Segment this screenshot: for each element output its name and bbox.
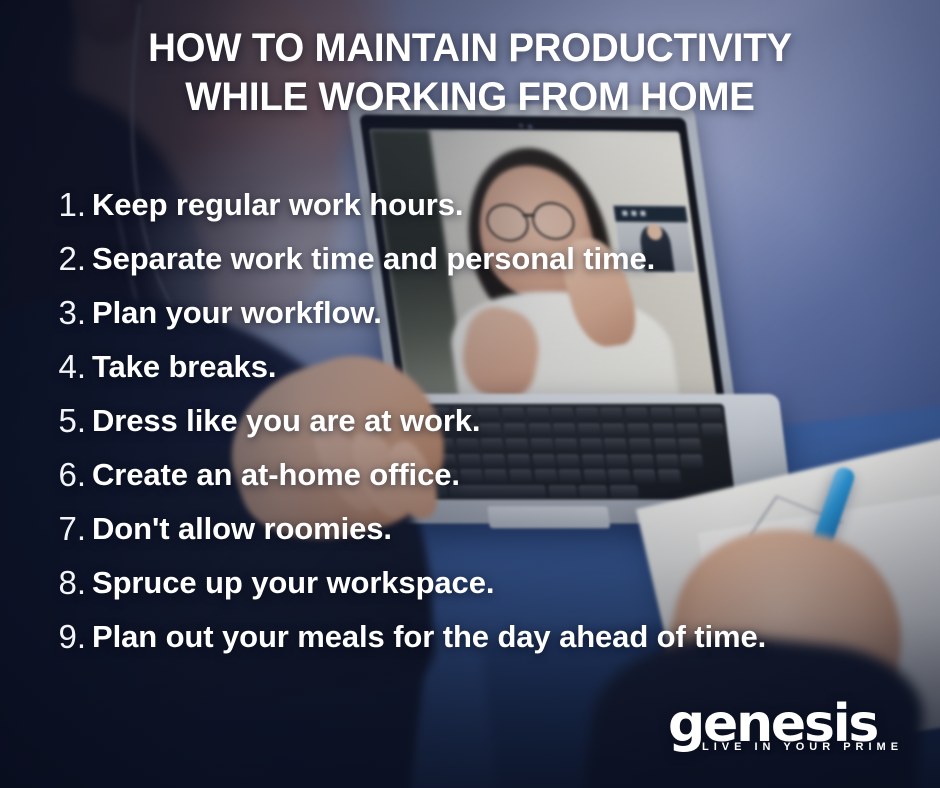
list-item: 1. Keep regular work hours.: [40, 182, 910, 228]
list-item-text: Create an at-home office.: [92, 452, 460, 498]
list-item: 7. Don't allow roomies.: [40, 506, 910, 552]
list-item-text: Don't allow roomies.: [92, 506, 392, 552]
page-title-line-2: WHILE WORKING FROM HOME: [40, 73, 900, 122]
page-title-line-1: HOW TO MAINTAIN PRODUCTIVITY: [40, 24, 900, 73]
list-item: 3. Plan your workflow.: [40, 290, 910, 336]
list-item-number: 7.: [40, 506, 86, 552]
list-item-text: Take breaks.: [92, 344, 276, 390]
list-item: 4. Take breaks.: [40, 344, 910, 390]
list-item-number: 4.: [40, 344, 86, 390]
list-item-text: Plan your workflow.: [92, 290, 382, 336]
list-item-text: Keep regular work hours.: [92, 182, 463, 228]
list-item-text: Dress like you are at work.: [92, 398, 480, 444]
list-item-text: Plan out your meals for the day ahead of…: [92, 614, 766, 660]
brand-logo: genesis LIVE IN YOUR PRIME: [668, 698, 908, 766]
list-item: 6. Create an at-home office.: [40, 452, 910, 498]
list-item: 2. Separate work time and personal time.: [40, 236, 910, 282]
tips-list: 1. Keep regular work hours. 2. Separate …: [40, 182, 910, 668]
list-item-number: 5.: [40, 398, 86, 444]
list-item-number: 6.: [40, 452, 86, 498]
list-item: 5. Dress like you are at work.: [40, 398, 910, 444]
list-item-number: 3.: [40, 290, 86, 336]
list-item-number: 8.: [40, 560, 86, 606]
page-title: HOW TO MAINTAIN PRODUCTIVITY WHILE WORKI…: [19, 24, 921, 122]
list-item-number: 1.: [40, 182, 86, 228]
poster-canvas: HOW TO MAINTAIN PRODUCTIVITY WHILE WORKI…: [0, 0, 940, 788]
list-item-number: 9.: [40, 614, 86, 660]
list-item: 8. Spruce up your workspace.: [40, 560, 910, 606]
brand-tagline: LIVE IN YOUR PRIME: [702, 741, 908, 754]
list-item-text: Spruce up your workspace.: [92, 560, 494, 606]
poster-content: HOW TO MAINTAIN PRODUCTIVITY WHILE WORKI…: [0, 0, 940, 788]
list-item: 9. Plan out your meals for the day ahead…: [40, 614, 910, 660]
list-item-text: Separate work time and personal time.: [92, 236, 655, 282]
list-item-number: 2.: [40, 236, 86, 282]
